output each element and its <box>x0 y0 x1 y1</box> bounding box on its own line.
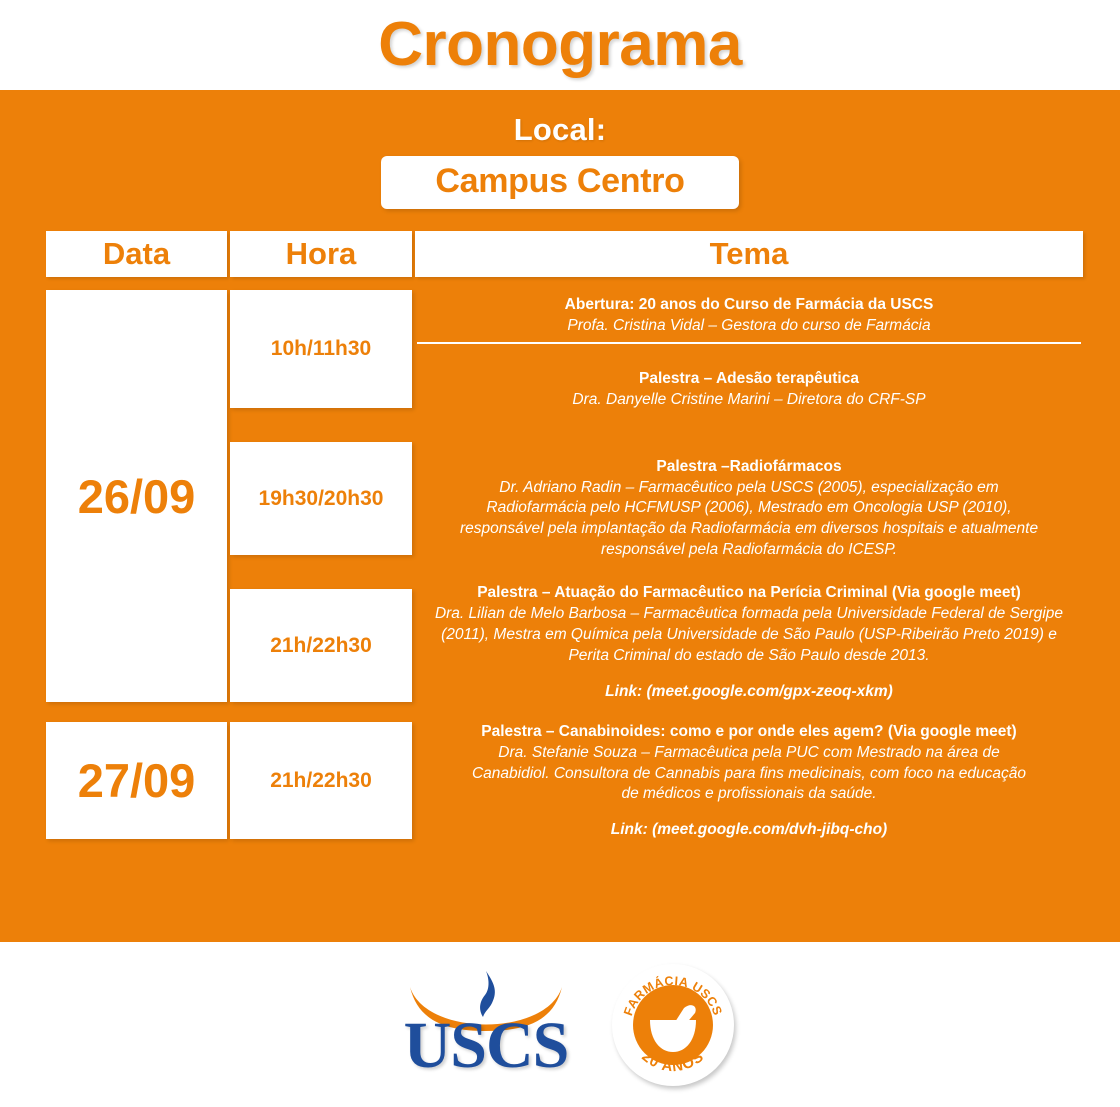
tema-block: Abertura: 20 anos do Curso de Farmácia d… <box>415 290 1083 342</box>
tema-description: Profa. Cristina Vidal – Gestora do curso… <box>425 316 1073 337</box>
hora-gap <box>230 555 412 589</box>
tema-title: Palestra –Radiofármacos <box>425 457 1073 478</box>
local-value: Campus Centro <box>381 162 739 201</box>
title-bar: Cronograma <box>0 0 1120 90</box>
tema-meet-link[interactable]: Link: (meet.google.com/dvh-jibq-cho) <box>425 821 1073 839</box>
tema-description: Dra. Lilian de Melo Barbosa – Farmacêuti… <box>434 604 1064 667</box>
farmacia-20-anos-badge: FARMÁCIA USCS 20 ANOS <box>612 964 734 1086</box>
tema-column: Abertura: 20 anos do Curso de Farmácia d… <box>415 290 1083 702</box>
hora-cell: 21h/22h30 <box>230 589 412 702</box>
mortar-pestle-badge-icon: FARMÁCIA USCS 20 ANOS <box>612 964 734 1086</box>
column-header-hora: Hora <box>230 231 412 277</box>
tema-block: Palestra – Canabinoides: como e por onde… <box>415 722 1083 839</box>
tema-title: Palestra – Adesão terapêutica <box>425 369 1073 390</box>
hora-cell: 10h/11h30 <box>230 290 412 408</box>
tema-meet-link[interactable]: Link: (meet.google.com/gpx-zeoq-xkm) <box>425 683 1073 701</box>
uscs-wordmark: USCS <box>386 1013 586 1079</box>
footer: USCS FARMÁCIA USCS 20 ANOS <box>0 942 1120 1107</box>
table-row: 27/09 21h/22h30 Palestra – Canabinoides:… <box>46 722 1083 839</box>
date-cell: 26/09 <box>46 290 227 702</box>
hora-column: 21h/22h30 <box>230 722 412 839</box>
tema-title: Abertura: 20 anos do Curso de Farmácia d… <box>425 295 1073 316</box>
table-header-row: Data Hora Tema <box>46 231 1083 277</box>
hora-column: 10h/11h30 19h30/20h30 21h/22h30 <box>230 290 412 702</box>
hora-cell: 21h/22h30 <box>230 722 412 839</box>
schedule-table: Data Hora Tema 26/09 10h/11h30 19h30/20h… <box>46 231 1083 839</box>
table-body: 26/09 10h/11h30 19h30/20h30 21h/22h30 Ab… <box>46 290 1083 839</box>
page-title: Cronograma <box>378 14 742 76</box>
tema-description: Dr. Adriano Radin – Farmacêutico pela US… <box>459 478 1039 562</box>
local-box: Campus Centro <box>381 156 739 209</box>
tema-column: Palestra – Canabinoides: como e por onde… <box>415 722 1083 839</box>
hora-cell: 19h30/20h30 <box>230 442 412 555</box>
column-header-data: Data <box>46 231 227 277</box>
tema-description: Dra. Danyelle Cristine Marini – Diretora… <box>425 390 1073 411</box>
schedule-panel: Local: Campus Centro Data Hora Tema 26/0… <box>0 90 1120 942</box>
tema-title: Palestra – Atuação do Farmacêutico na Pe… <box>425 583 1073 604</box>
hora-gap <box>230 408 412 442</box>
tema-title: Palestra – Canabinoides: como e por onde… <box>425 722 1073 743</box>
column-header-tema: Tema <box>415 231 1083 277</box>
table-row: 26/09 10h/11h30 19h30/20h30 21h/22h30 Ab… <box>46 290 1083 702</box>
tema-description: Dra. Stefanie Souza – Farmacêutica pela … <box>469 743 1029 806</box>
date-cell: 27/09 <box>46 722 227 839</box>
tema-block: Palestra – Atuação do Farmacêutico na Pe… <box>415 582 1083 702</box>
local-label: Local: <box>0 90 1120 148</box>
tema-block: Palestra – Adesão terapêutica Dra. Danye… <box>415 344 1083 437</box>
tema-block: Palestra –Radiofármacos Dr. Adriano Radi… <box>415 436 1083 581</box>
uscs-logo: USCS <box>386 965 586 1085</box>
